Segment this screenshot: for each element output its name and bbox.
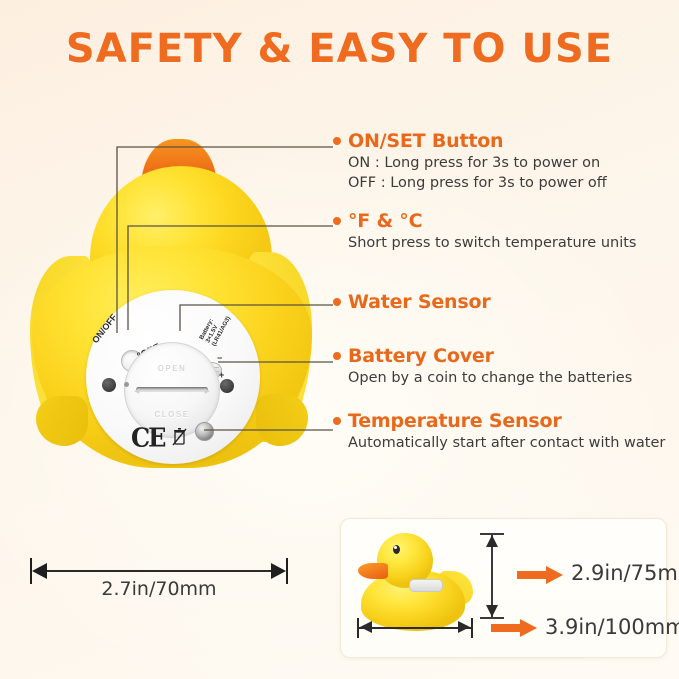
callout-line: Automatically start after contact with w… (348, 434, 665, 452)
dimension-arrowhead-right-icon (271, 563, 286, 579)
panel-contact-dot-right (220, 379, 234, 393)
infographic-canvas: SAFETY & EASY TO USE ON/OFF °C/°F Batter… (0, 0, 679, 679)
callout-heading: °F & °C (348, 210, 636, 232)
back-panel: ON/OFF °C/°F Battery:3×1.5V(LR41/AG3) − … (86, 290, 260, 464)
callout-line: Short press to switch temperature units (348, 234, 636, 252)
inset-duck-eye (393, 545, 400, 554)
panel-pinhole (124, 382, 129, 387)
callout-water-sensor: Water Sensor (348, 291, 490, 313)
length-pointer-arrow-icon (491, 619, 537, 635)
callout-bullet-icon (333, 217, 341, 225)
inset-duck-beak (358, 563, 388, 579)
callout-heading: ON/SET Button (348, 130, 607, 152)
weee-bin-icon (172, 427, 187, 446)
page-title: SAFETY & EASY TO USE (0, 26, 679, 72)
height-pointer-arrow-icon (517, 566, 563, 582)
callout-bullet-icon (333, 137, 341, 145)
callout-heading: Battery Cover (348, 345, 632, 367)
callout-temperature-sensor: Temperature Sensor Automatically start a… (348, 410, 665, 452)
cover-arrow-right-icon: ▶ (205, 387, 210, 395)
height-arrowhead-down-icon (486, 605, 498, 617)
cover-close-label: CLOSE (125, 410, 219, 419)
panel-contact-dot-left (102, 378, 116, 392)
callout-on-set-button: ON/SET Button ON : Long press for 3s to … (348, 130, 607, 192)
dimension-bar (36, 570, 282, 572)
width-dimension-label: 2.7in/70mm (30, 578, 288, 600)
dimension-arrowhead-left-icon (32, 563, 47, 579)
coin-slot (136, 387, 208, 392)
size-inset-panel: 2.9in/75mm 3.9in/100mm (340, 518, 667, 658)
callout-heading: Water Sensor (348, 291, 490, 313)
polarity-minus-label: − (217, 353, 222, 363)
temperature-sensor (195, 422, 214, 441)
product-duck-rear-view: ON/OFF °C/°F Battery:3×1.5V(LR41/AG3) − … (28, 138, 316, 468)
length-arrowhead-right-icon (458, 621, 470, 633)
callout-bullet-icon (333, 417, 341, 425)
callout-line: OFF : Long press for 3s to power off (348, 174, 607, 192)
height-arrowhead-up-icon (486, 535, 498, 547)
callout-bullet-icon (333, 352, 341, 360)
inset-duck-display (409, 579, 443, 592)
height-value-label: 2.9in/75mm (571, 561, 679, 585)
product-duck-side-view (355, 527, 473, 633)
cover-open-label: OPEN (125, 364, 219, 373)
width-dimension: 2.7in/70mm (30, 558, 288, 606)
battery-spec-label: Battery:3×1.5V(LR41/AG3) (199, 309, 233, 348)
callout-line: ON : Long press for 3s to power on (348, 154, 607, 172)
length-value-label: 3.9in/100mm (545, 615, 679, 639)
length-arrowhead-left-icon (360, 621, 372, 633)
callout-line: Open by a coin to change the batteries (348, 369, 632, 387)
callout-bullet-icon (333, 298, 341, 306)
ce-mark-icon: CE (131, 422, 164, 453)
callout-heading: Temperature Sensor (348, 410, 665, 432)
cover-arrow-left-icon: ◀ (134, 387, 139, 395)
length-dimension-bar (357, 627, 473, 629)
callout-battery-cover: Battery Cover Open by a coin to change t… (348, 345, 632, 387)
callout-f-and-c: °F & °C Short press to switch temperatur… (348, 210, 636, 252)
